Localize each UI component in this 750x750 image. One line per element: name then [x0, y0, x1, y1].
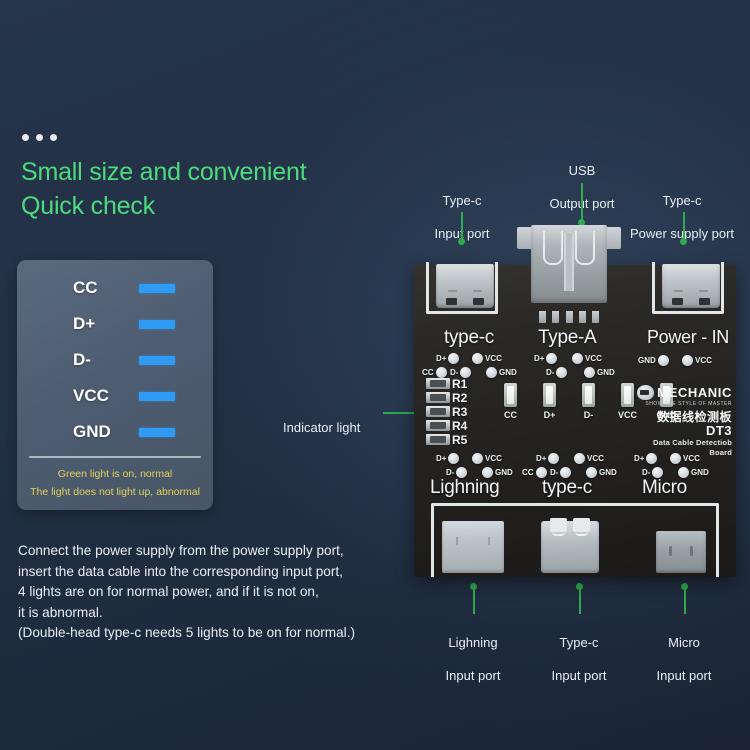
callout-line-1: Type-c [413, 193, 511, 210]
resistor-chip [426, 378, 450, 389]
callout-line-2: Input port [530, 668, 628, 685]
port-title-power-in: Power - IN [647, 327, 729, 348]
leader-line-typec-input-bottom [579, 588, 581, 614]
legend-label-gnd: GND [73, 422, 119, 442]
leader-dot-lightning-input [470, 583, 477, 590]
resistor-row: R3 [426, 405, 467, 418]
port-title-typec-bottom: type-c [542, 477, 592, 499]
legend-row: GND [17, 414, 213, 450]
callout-line-1: Type-c [530, 635, 628, 652]
typec-power-connector-body [662, 264, 720, 308]
usb-a-pins [539, 311, 599, 323]
callout-line-1: Type-c [614, 193, 750, 210]
port-title-lightning: Lighning [430, 477, 499, 499]
headline-line-2: Quick check [21, 192, 155, 220]
resistor-row: R2 [426, 391, 467, 404]
decorative-dots [22, 134, 57, 141]
resistor-chip [426, 434, 450, 445]
connector-slot [573, 518, 590, 532]
led-body [504, 383, 517, 407]
legend-notes: Green light is on, normal The light does… [17, 465, 213, 501]
legend-bar-dplus [139, 320, 175, 329]
pad-vcc: VCC [472, 453, 502, 464]
resistor-chip [426, 420, 450, 431]
pad-vcc: VCC [572, 353, 602, 364]
connector-lip [575, 532, 588, 536]
pad-gnd: GND [584, 367, 615, 378]
legend-label-cc: CC [73, 278, 119, 298]
usb-a-spring [543, 231, 563, 265]
callout-micro-input-port: Micro Input port [635, 618, 733, 701]
legend-bar-vcc [139, 392, 175, 401]
callout-indicator-light: Indicator light [283, 403, 383, 436]
legend-row: CC [17, 270, 213, 306]
pad-dplus: D+ [634, 453, 657, 464]
brand-model: DT3 [706, 423, 732, 438]
callout-typec-input-port-bottom: Type-c Input port [530, 618, 628, 701]
legend-divider [29, 456, 201, 458]
leader-line-usb-output [581, 183, 583, 221]
headline: Small size and convenient Quick check [21, 155, 306, 223]
legend-bar-dminus [139, 356, 175, 365]
leader-line-typec-power [683, 212, 685, 240]
infographic-page: Small size and convenient Quick check CC… [0, 0, 750, 750]
led-vcc: VCC [617, 383, 638, 420]
brand-tagline: SHOW THE STYLE OF MASTER [636, 401, 732, 408]
pad-gnd: GND [486, 367, 517, 378]
connector-notch [699, 290, 708, 292]
brand-chinese-row: 数据线检测板 DT3 [636, 410, 732, 438]
pad-dplus: D+ [534, 353, 557, 364]
port-title-micro: Micro [642, 477, 687, 499]
pad-vcc: VCC [574, 453, 604, 464]
typec-input-connector-body [436, 264, 494, 308]
led-label-dplus: D+ [539, 410, 560, 420]
lightning-input-connector[interactable] [442, 521, 504, 573]
legend-bar-gnd [139, 428, 175, 437]
usb-a-output-connector[interactable] [525, 225, 613, 313]
usage-instructions: Connect the power supply from the power … [18, 541, 398, 644]
resistor-row: R4 [426, 419, 467, 432]
callout-indicator-label: Indicator light [283, 420, 360, 435]
resistor-label-r4: R4 [452, 419, 467, 433]
micro-input-connector[interactable] [656, 531, 706, 573]
led-dplus: D+ [539, 383, 560, 420]
led-cc: CC [500, 383, 521, 420]
pad-vcc: VCC [670, 453, 700, 464]
led-dminus: D- [578, 383, 599, 420]
resistor-chip [426, 406, 450, 417]
callout-line-1: Micro [635, 635, 733, 652]
dot-1 [22, 134, 29, 141]
resistor-label-r2: R2 [452, 391, 467, 405]
pad-vcc: VCC [472, 353, 502, 364]
legend-row: D+ [17, 306, 213, 342]
legend-note-normal: Green light is on, normal [17, 465, 213, 483]
led-body [543, 383, 556, 407]
leader-dot-typec-input-bottom [576, 583, 583, 590]
legend-label-dplus: D+ [73, 314, 119, 334]
legend-note-abnormal: The light does not light up, abnormal [17, 483, 213, 501]
pad-dplus: D+ [436, 353, 459, 364]
led-body [621, 383, 634, 407]
callout-lightning-input-port: Lighning Input port [424, 618, 522, 701]
typec-input-connector[interactable] [426, 262, 498, 314]
resistor-array: R1 R2 R3 R4 R5 [426, 377, 467, 447]
resistor-row: R5 [426, 433, 467, 446]
port-title-typec-input: type-c [444, 327, 494, 349]
connector-notch [448, 290, 457, 292]
callout-line-1: Lighning [424, 635, 522, 652]
leader-line-micro-input [684, 588, 686, 614]
leader-dot-micro-input [681, 583, 688, 590]
legend-row: D- [17, 342, 213, 378]
callout-typec-power-supply-port: Type-c Power supply port [614, 176, 750, 259]
connector-notch [674, 290, 683, 292]
led-label-cc: CC [500, 410, 521, 420]
connector-slot [550, 518, 567, 532]
usb-a-tongue [564, 233, 574, 291]
pad-dminus: D- [546, 367, 567, 378]
usb-a-spring [575, 231, 595, 265]
mechanic-logo-icon [637, 385, 654, 400]
pad-vcc: VCC [682, 355, 712, 366]
pad-gnd: GND [638, 355, 669, 366]
signal-legend-card: CC D+ D- VCC GND Green light is on, norm… [17, 260, 213, 510]
dot-3 [50, 134, 57, 141]
dot-2 [36, 134, 43, 141]
resistor-label-r3: R3 [452, 405, 467, 419]
legend-row: VCC [17, 378, 213, 414]
brand-logo-row: MECHANIC [636, 385, 732, 400]
resistor-row: R1 [426, 377, 467, 390]
legend-label-dminus: D- [73, 350, 119, 370]
resistor-label-r1: R1 [452, 377, 467, 391]
legend-bar-cc [139, 284, 175, 293]
legend-label-vcc: VCC [73, 386, 119, 406]
pad-dplus: D+ [536, 453, 559, 464]
usb-a-connector-body [531, 225, 607, 303]
brand-chinese-name: 数据线检测板 [657, 410, 732, 424]
led-label-dminus: D- [578, 410, 599, 420]
resistor-chip [426, 392, 450, 403]
typec-input-connector-bottom[interactable] [541, 521, 599, 573]
connector-notch [473, 290, 482, 292]
connector-lip [552, 532, 565, 536]
brand-silkscreen: MECHANIC SHOW THE STYLE OF MASTER 数据线检测板… [636, 385, 732, 458]
callout-line-2: Input port [635, 668, 733, 685]
headline-line-1: Small size and convenient [21, 158, 306, 186]
led-label-vcc: VCC [617, 410, 638, 420]
port-title-usb-a: Type-A [538, 327, 596, 349]
typec-power-connector[interactable] [652, 262, 724, 314]
brand-name: MECHANIC [657, 386, 732, 399]
detection-board: type-c Type-A Power - IN D+ VCC CC D- GN… [414, 265, 736, 577]
leader-dot-typec-power [680, 238, 687, 245]
resistor-label-r5: R5 [452, 433, 467, 447]
led-body [582, 383, 595, 407]
leader-line-lightning-input [473, 588, 475, 614]
leader-line-typec-input [461, 212, 463, 240]
pad-dplus: D+ [436, 453, 459, 464]
leader-dot-typec-input [458, 238, 465, 245]
callout-line-2: Input port [424, 668, 522, 685]
